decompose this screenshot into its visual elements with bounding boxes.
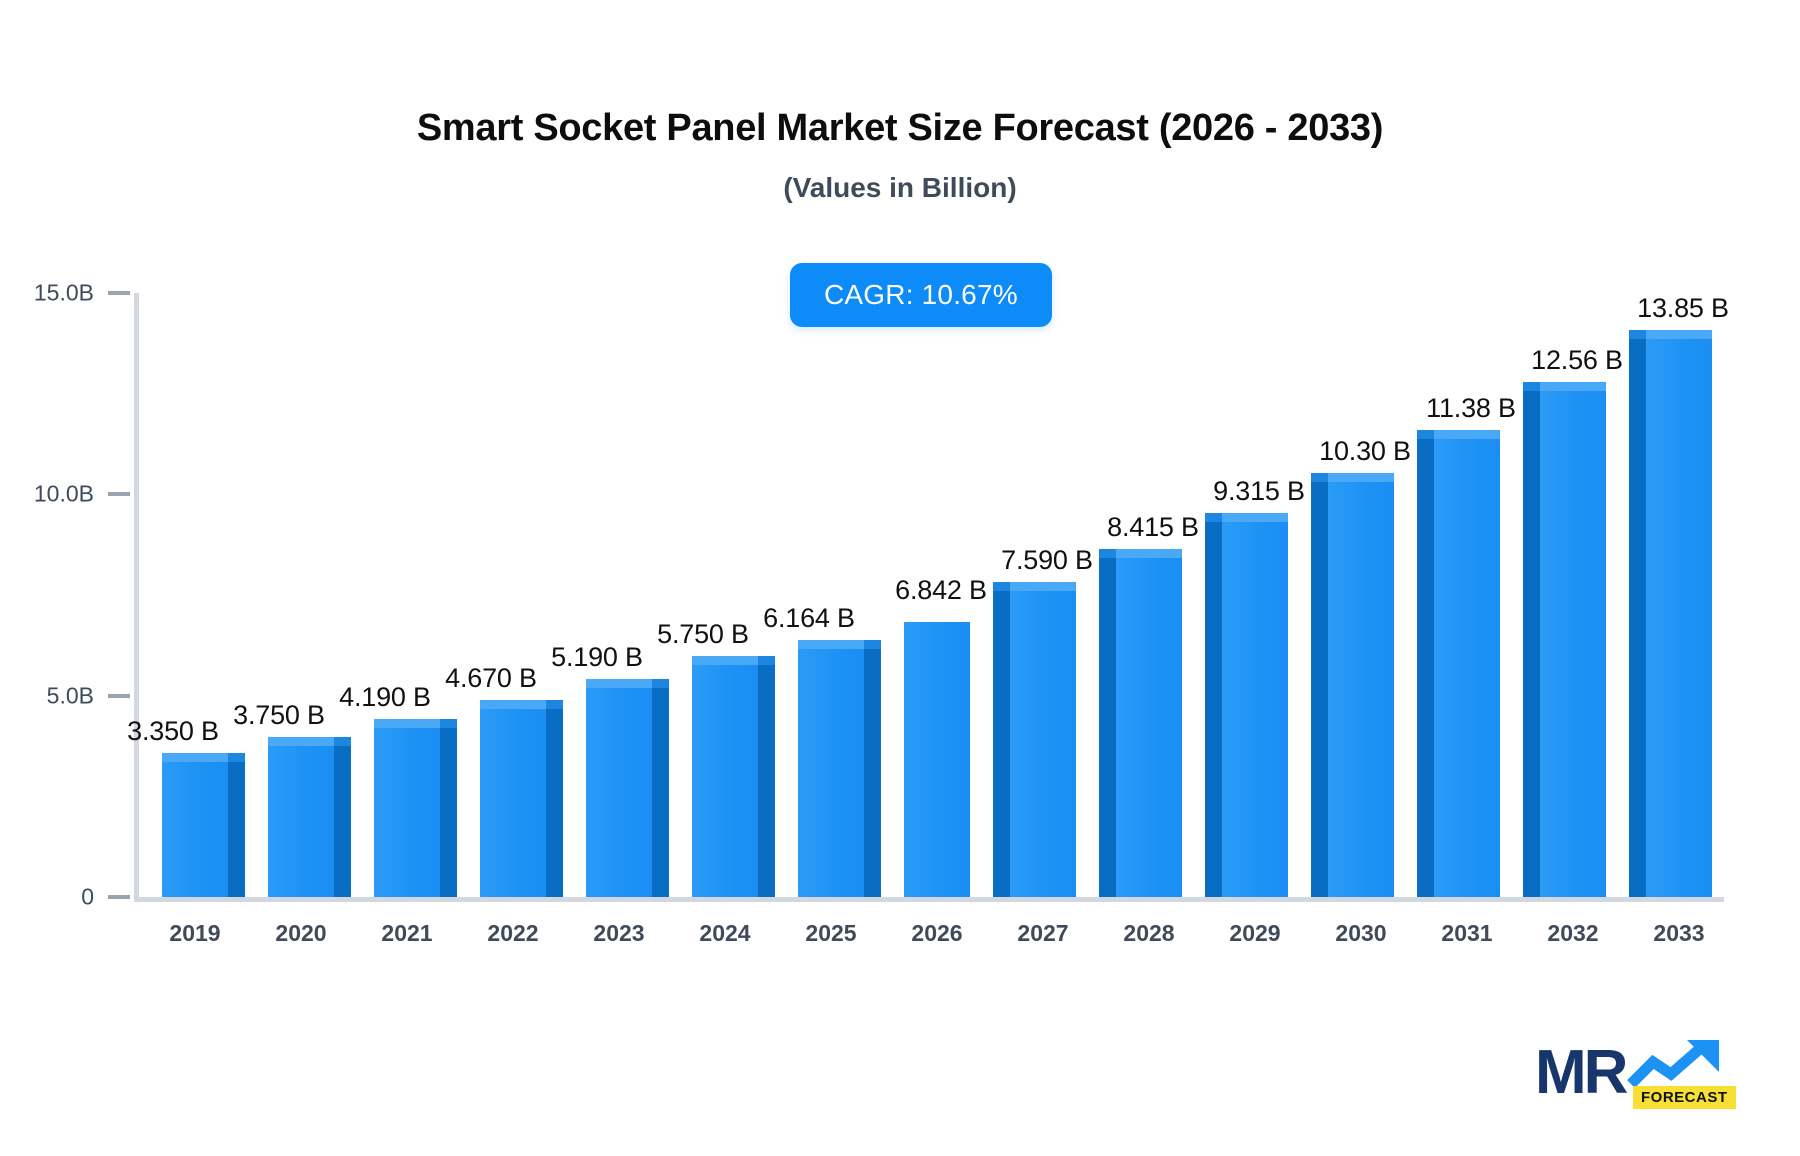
bar-2025[interactable] [798, 293, 864, 897]
bar-top-cap [864, 640, 881, 649]
bar-top-face [1222, 513, 1288, 522]
bar-value-label: 5.750 B [657, 619, 749, 650]
bar-2019[interactable] [162, 293, 228, 897]
bar-2021[interactable] [374, 293, 440, 897]
bar-top-face [692, 656, 758, 665]
bar-top-face [480, 700, 546, 709]
bar-side-face [440, 724, 457, 897]
bar-top-cap [652, 679, 669, 688]
bar-top-cap [1523, 382, 1540, 391]
bar-value-label: 3.350 B [127, 716, 219, 747]
bar-face [1434, 439, 1500, 897]
y-tick-mark [108, 291, 130, 295]
bar-face [1116, 558, 1182, 897]
bar-top-cap [758, 656, 775, 665]
bar-side-face [1523, 387, 1540, 897]
bar-top-face [1010, 582, 1076, 591]
chart-subtitle: (Values in Billion) [0, 172, 1800, 204]
bar-face [904, 622, 970, 898]
bar-top-face [162, 753, 228, 762]
bar-top-cap [334, 737, 351, 746]
y-tick-label-15.0B: 15.0B [0, 280, 94, 307]
bar-side-face [1629, 335, 1646, 897]
bar-side-face [993, 587, 1010, 897]
page-title: Smart Socket Panel Market Size Forecast … [0, 108, 1800, 150]
bar-2030[interactable] [1328, 293, 1394, 897]
bar-face [1010, 591, 1076, 897]
bar-side-face [1311, 478, 1328, 897]
bar-top-face [268, 737, 334, 746]
y-tick-label-0: 0 [0, 884, 94, 911]
x-tick-2027: 2027 [1017, 920, 1068, 947]
x-tick-2033: 2033 [1653, 920, 1704, 947]
x-tick-2026: 2026 [911, 920, 962, 947]
logo-forecast-tag: FORECAST [1633, 1086, 1736, 1109]
bar-2022[interactable] [480, 293, 546, 897]
plot-area: 3.350 B3.750 B4.190 B4.670 B5.190 B5.750… [134, 293, 1724, 897]
bar-2032[interactable] [1540, 293, 1606, 897]
x-tick-2028: 2028 [1123, 920, 1174, 947]
y-tick-mark [108, 895, 130, 899]
bar-side-face [546, 705, 563, 897]
bar-face [480, 709, 546, 897]
bar-face [268, 746, 334, 897]
bar-2028[interactable] [1116, 293, 1182, 897]
bar-side-face [758, 661, 775, 897]
bar-side-face [1099, 554, 1116, 897]
bar-value-label: 11.38 B [1426, 393, 1516, 424]
bar-value-label: 5.190 B [551, 642, 643, 673]
bar-top-face [798, 640, 864, 649]
bar-2024[interactable] [692, 293, 758, 897]
x-tick-2024: 2024 [699, 920, 750, 947]
bar-top-cap [228, 753, 245, 762]
bar-top-face [1646, 330, 1712, 339]
bar-value-label: 6.164 B [763, 603, 855, 634]
bar-top-cap [993, 582, 1010, 591]
y-tick-label-10.0B: 10.0B [0, 481, 94, 508]
bar-top-cap [1099, 549, 1116, 558]
y-tick-mark [108, 694, 130, 698]
bar-top-face [1434, 430, 1500, 439]
bar-top-cap [1311, 473, 1328, 482]
bar-face [586, 688, 652, 897]
bar-top-cap [546, 700, 563, 709]
bar-value-label: 3.750 B [233, 700, 325, 731]
bar-side-face [864, 645, 881, 897]
bar-top-face [374, 719, 440, 728]
x-tick-2019: 2019 [169, 920, 220, 947]
bar-face [1646, 339, 1712, 897]
bar-value-label: 13.85 B [1637, 293, 1729, 324]
x-tick-2031: 2031 [1441, 920, 1492, 947]
bar-face [1222, 522, 1288, 897]
bar-value-label: 10.30 B [1319, 436, 1411, 467]
x-tick-2021: 2021 [381, 920, 432, 947]
chart-container: Smart Socket Panel Market Size Forecast … [0, 0, 1800, 1156]
bar-top-face [586, 679, 652, 688]
bar-side-face [1205, 518, 1222, 897]
bar-2029[interactable] [1222, 293, 1288, 897]
bar-face [1328, 482, 1394, 897]
bar-value-label: 12.56 B [1531, 345, 1623, 376]
bar-value-label: 7.590 B [1001, 545, 1093, 576]
x-tick-2029: 2029 [1229, 920, 1280, 947]
x-tick-2020: 2020 [275, 920, 326, 947]
bar-face [692, 665, 758, 897]
logo-wordmark: MR [1535, 1042, 1625, 1104]
bar-2027[interactable] [1010, 293, 1076, 897]
bar-face [798, 649, 864, 897]
bar-2020[interactable] [268, 293, 334, 897]
y-tick-mark [108, 492, 130, 496]
bar-top-cap [1629, 330, 1646, 339]
x-axis-spine [134, 897, 1724, 902]
bar-face [162, 762, 228, 897]
bar-value-label: 6.842 B [895, 575, 987, 606]
bar-value-label: 9.315 B [1213, 476, 1305, 507]
x-tick-2032: 2032 [1547, 920, 1598, 947]
bar-top-face [1116, 549, 1182, 558]
bar-2023[interactable] [586, 293, 652, 897]
bar-face [374, 728, 440, 897]
x-tick-2030: 2030 [1335, 920, 1386, 947]
bar-side-face [652, 684, 669, 897]
mr-forecast-logo: MR FORECAST [1535, 1040, 1735, 1124]
bar-2033[interactable] [1646, 293, 1712, 897]
bar-face [1540, 391, 1606, 897]
x-tick-2023: 2023 [593, 920, 644, 947]
bar-value-label: 4.190 B [339, 682, 431, 713]
bar-2031[interactable] [1434, 293, 1500, 897]
bar-value-label: 8.415 B [1107, 512, 1199, 543]
bar-side-face [228, 758, 245, 897]
title-block: Smart Socket Panel Market Size Forecast … [0, 108, 1800, 204]
bar-top-face [1540, 382, 1606, 391]
bar-top-cap [1417, 430, 1434, 439]
y-tick-label-5.0B: 5.0B [0, 682, 94, 709]
bar-top-cap [1205, 513, 1222, 522]
bar-side-face [334, 742, 351, 897]
x-tick-2022: 2022 [487, 920, 538, 947]
bar-side-face [1417, 435, 1434, 897]
x-tick-2025: 2025 [805, 920, 856, 947]
bars-layer: 3.350 B3.750 B4.190 B4.670 B5.190 B5.750… [134, 293, 1724, 897]
bar-top-cap [440, 719, 457, 728]
bar-top-face [1328, 473, 1394, 482]
bar-value-label: 4.670 B [445, 663, 537, 694]
